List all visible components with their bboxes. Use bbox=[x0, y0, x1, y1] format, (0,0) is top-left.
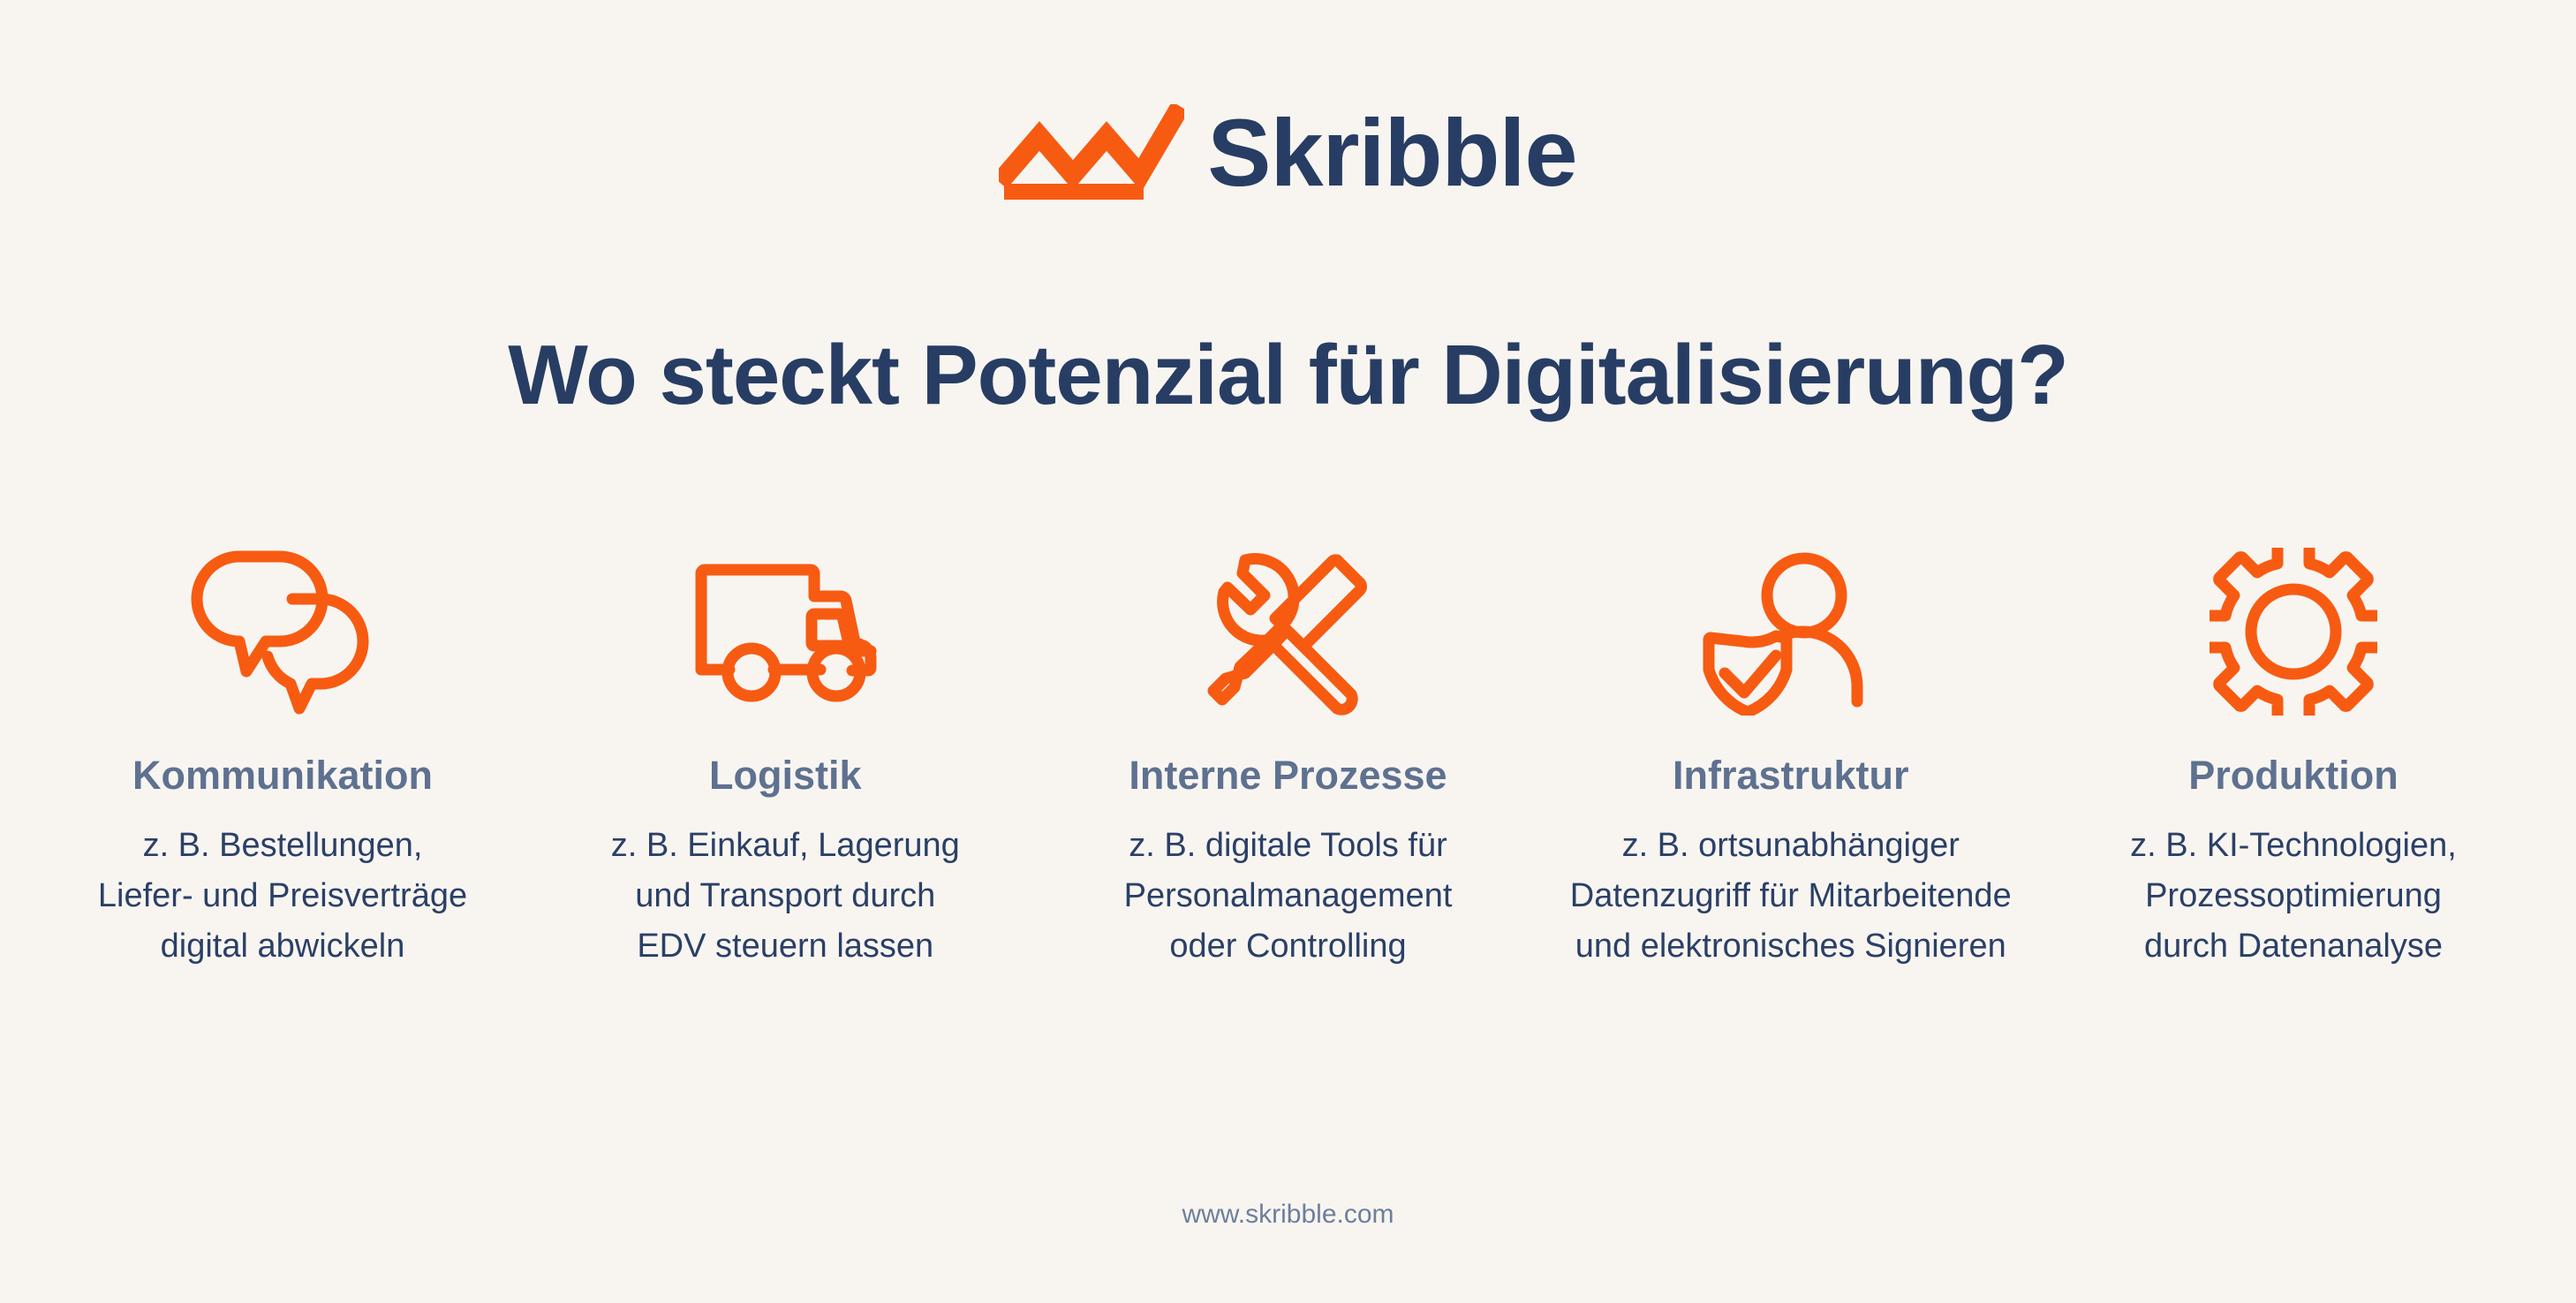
category-description: z. B. Einkauf, Lagerung und Transport du… bbox=[611, 821, 960, 972]
person-shield-check-icon bbox=[1700, 543, 1881, 720]
wrench-screwdriver-icon bbox=[1205, 543, 1372, 720]
category-column-interne-prozesse: Interne Prozesse z. B. digitale Tools fü… bbox=[1041, 543, 1536, 972]
category-description: z. B. KI-Technologien, Prozessoptimierun… bbox=[2130, 821, 2457, 972]
category-heading: Kommunikation bbox=[132, 754, 433, 798]
brand-logo: Skribble bbox=[0, 104, 2576, 201]
category-heading: Infrastruktur bbox=[1673, 754, 1909, 798]
chart-zigzag-icon bbox=[999, 104, 1184, 201]
category-heading: Interne Prozesse bbox=[1129, 754, 1447, 798]
category-column-produktion: Produktion z. B. KI-Technologien, Prozes… bbox=[2046, 543, 2541, 972]
footer-url[interactable]: www.skribble.com bbox=[0, 1200, 2576, 1230]
category-description: z. B. Bestellungen, Liefer- und Preisver… bbox=[98, 821, 467, 972]
category-heading: Logistik bbox=[709, 754, 862, 798]
delivery-truck-icon bbox=[691, 543, 880, 720]
brand-wordmark: Skribble bbox=[1207, 105, 1576, 201]
category-columns: Kommunikation z. B. Bestellungen, Liefer… bbox=[35, 543, 2541, 972]
category-column-kommunikation: Kommunikation z. B. Bestellungen, Liefer… bbox=[35, 543, 530, 972]
category-column-infrastruktur: Infrastruktur z. B. ortsunabhängiger Dat… bbox=[1544, 543, 2038, 972]
infographic-page: Skribble Wo steckt Potenzial für Digital… bbox=[0, 0, 2576, 1303]
category-description: z. B. ortsunabhängiger Datenzugriff für … bbox=[1570, 821, 2012, 972]
page-title: Wo steckt Potenzial für Digitalisierung? bbox=[0, 327, 2576, 424]
category-column-logistik: Logistik z. B. Einkauf, Lagerung und Tra… bbox=[538, 543, 1032, 972]
category-heading: Produktion bbox=[2188, 754, 2398, 798]
gear-icon bbox=[2210, 543, 2377, 720]
speech-bubbles-icon bbox=[188, 543, 378, 720]
category-description: z. B. digitale Tools für Personalmanagem… bbox=[1124, 821, 1453, 972]
